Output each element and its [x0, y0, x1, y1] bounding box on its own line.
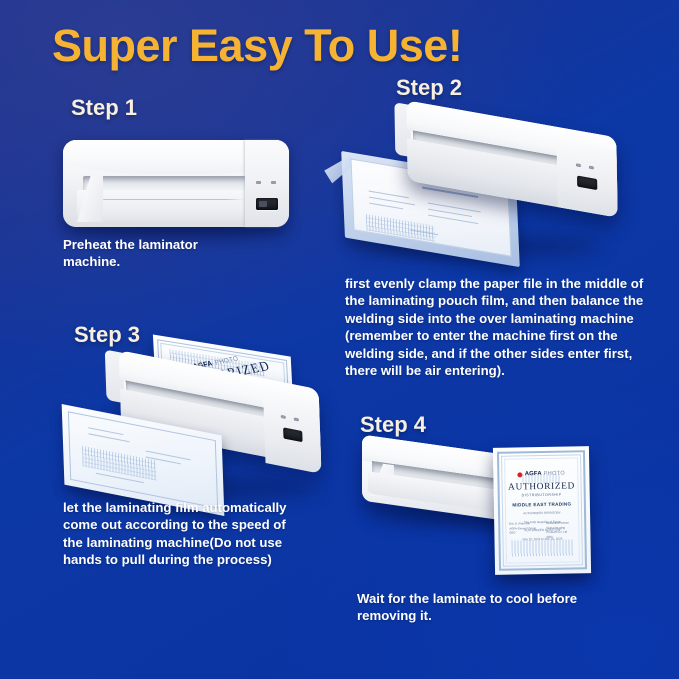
certificate-heading: AUTHORIZED — [507, 481, 577, 492]
step-2-label: Step 2 — [396, 75, 462, 101]
certificate-signature-row: Eric D. Anderson AGFA-Gevaert Group CEO … — [509, 521, 575, 540]
step-3-caption: let the laminating film automatically co… — [63, 499, 313, 569]
step-4-label: Step 4 — [360, 412, 426, 438]
certificate-subheading: DISTRIBUTORSHIP — [507, 492, 577, 497]
step-1-laminator-front-view — [63, 140, 289, 227]
certificate-content: AGFA PHOTO AUTHORIZED DISTRIBUTORSHIP MI… — [506, 459, 578, 561]
certificate-guilloche-top — [522, 474, 560, 484]
laminator-feed-slot — [83, 176, 251, 191]
certificate-seal-pattern — [512, 539, 574, 556]
signature-left: Eric D. Anderson AGFA-Gevaert Group CEO — [509, 521, 538, 539]
step-1-label: Step 1 — [71, 95, 137, 121]
ready-led-indicator — [271, 181, 276, 184]
signature-right-role: CEO — [546, 534, 575, 539]
power-led-indicator — [576, 163, 581, 167]
certificate-territory-label: AUTHORIZED TERRITORY — [507, 510, 577, 516]
page-title-text: Super Easy To Use — [52, 20, 448, 71]
page-title-exclamation: ! — [448, 20, 463, 71]
power-led-indicator — [256, 181, 261, 184]
laminator-right-end-cap — [245, 140, 289, 227]
step-4-finished-certificate: AGFA PHOTO AUTHORIZED DISTRIBUTORSHIP MI… — [493, 446, 591, 575]
signature-right: Mohamed Hassan Global Imaging Products C… — [546, 521, 575, 539]
laminator-input-tray — [77, 190, 255, 220]
infographic-poster: Super Easy To Use! Step 1 Preheat the la… — [0, 0, 679, 679]
page-title: Super Easy To Use! — [52, 20, 462, 72]
ready-led-indicator — [589, 166, 594, 170]
step-1-caption: Preheat the laminator machine. — [63, 236, 293, 271]
signature-left-role: CEO — [509, 530, 538, 535]
step-2-caption: first evenly clamp the paper file in the… — [345, 275, 655, 380]
step-4-caption: Wait for the laminate to cool before rem… — [357, 590, 647, 625]
certificate-organization: MIDDLE EAST TRADING — [507, 501, 577, 507]
step-3-label: Step 3 — [74, 322, 140, 348]
power-switch — [256, 198, 278, 210]
